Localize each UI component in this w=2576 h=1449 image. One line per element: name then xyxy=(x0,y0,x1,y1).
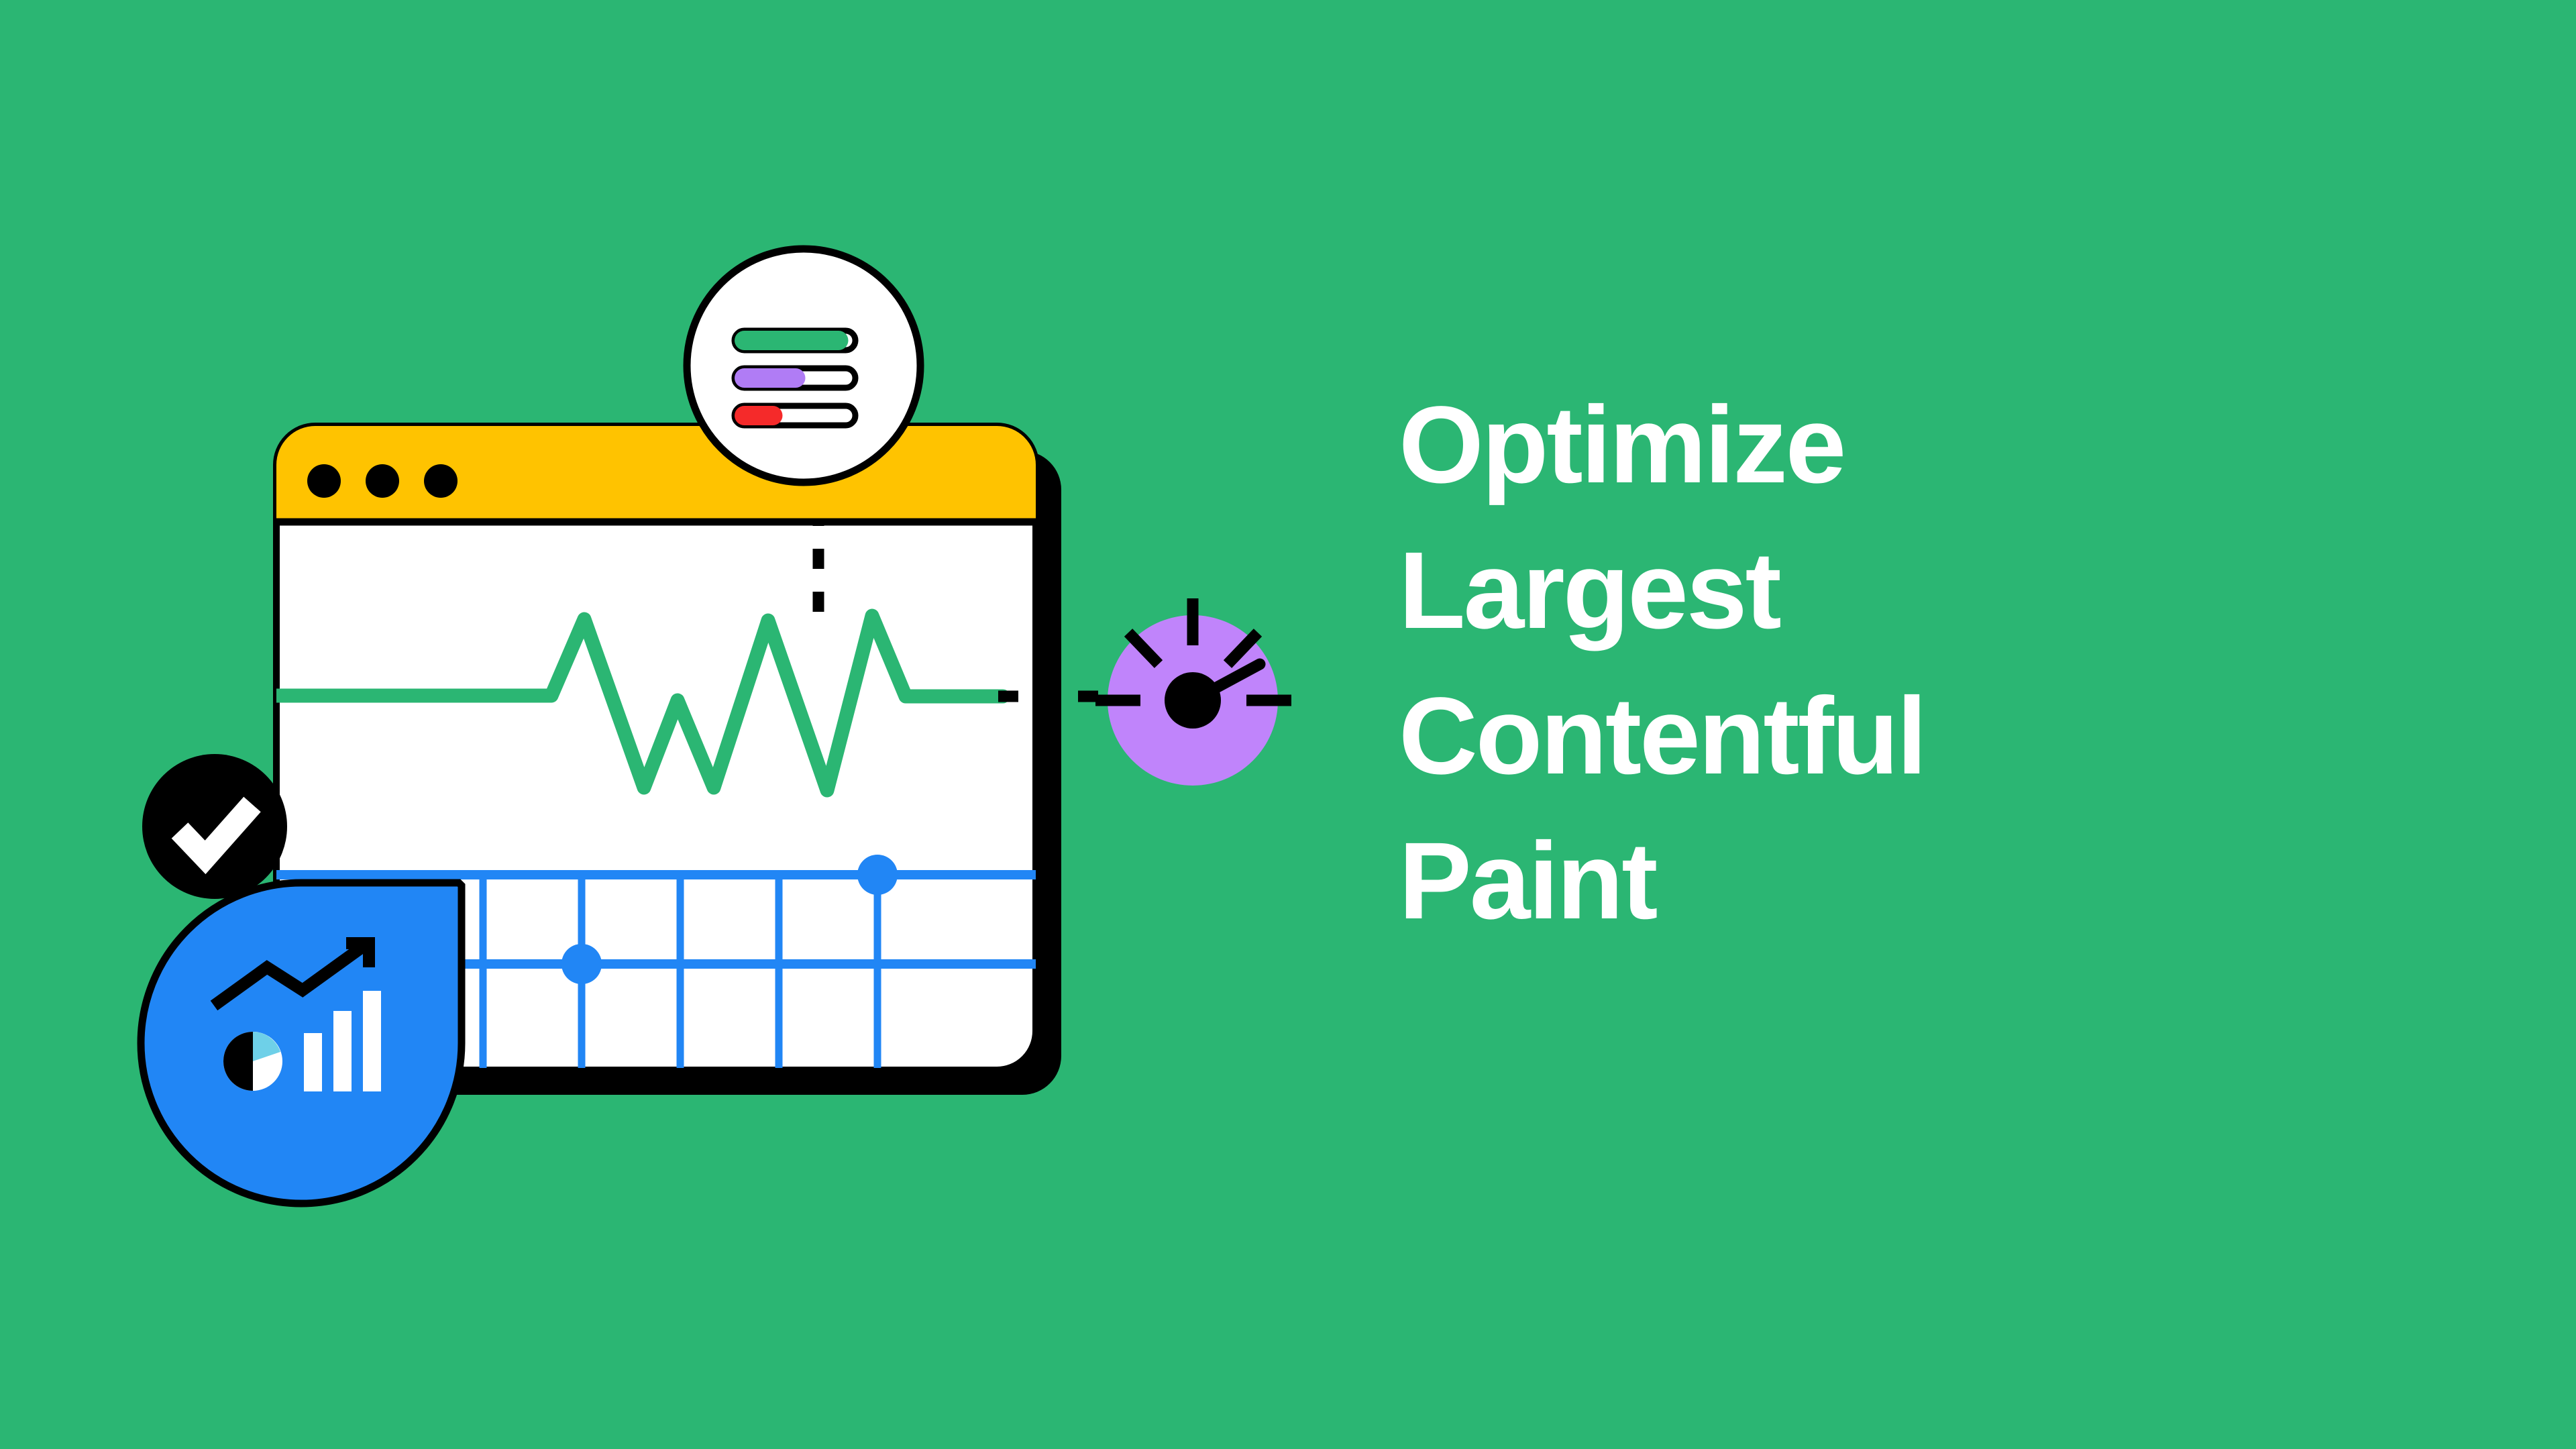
progress-bar-purple-fill xyxy=(735,368,806,388)
metrics-progress-badge[interactable] xyxy=(687,249,920,482)
headline-line-4: Paint xyxy=(1399,808,2405,954)
gauge-hub xyxy=(1165,672,1221,729)
page-title: Optimize Largest Contentful Paint xyxy=(1399,372,2405,954)
check-circle-background xyxy=(142,754,287,899)
analytics-bar-2 xyxy=(333,1011,352,1091)
grid-dot-right[interactable] xyxy=(857,855,898,895)
pie-chart-icon xyxy=(223,1032,282,1091)
analytics-pin[interactable] xyxy=(141,883,462,1203)
headline-line-2: Largest xyxy=(1399,518,2405,663)
headline-line-1: Optimize xyxy=(1399,372,2405,518)
analytics-bar-1 xyxy=(304,1033,322,1091)
traffic-light-dot-1[interactable] xyxy=(307,464,341,498)
traffic-light-dot-2[interactable] xyxy=(366,464,399,498)
grid-dot-left[interactable] xyxy=(561,944,602,984)
progress-bar-green-fill xyxy=(735,331,849,350)
headline-line-3: Contentful xyxy=(1399,663,2405,809)
progress-bar-red-fill xyxy=(735,406,783,425)
check-circle[interactable] xyxy=(142,754,287,899)
analytics-pin-shape xyxy=(141,883,462,1203)
traffic-light-dot-3[interactable] xyxy=(424,464,458,498)
analytics-bar-3 xyxy=(363,991,381,1091)
poster-canvas: Optimize Largest Contentful Paint xyxy=(0,0,2576,1449)
